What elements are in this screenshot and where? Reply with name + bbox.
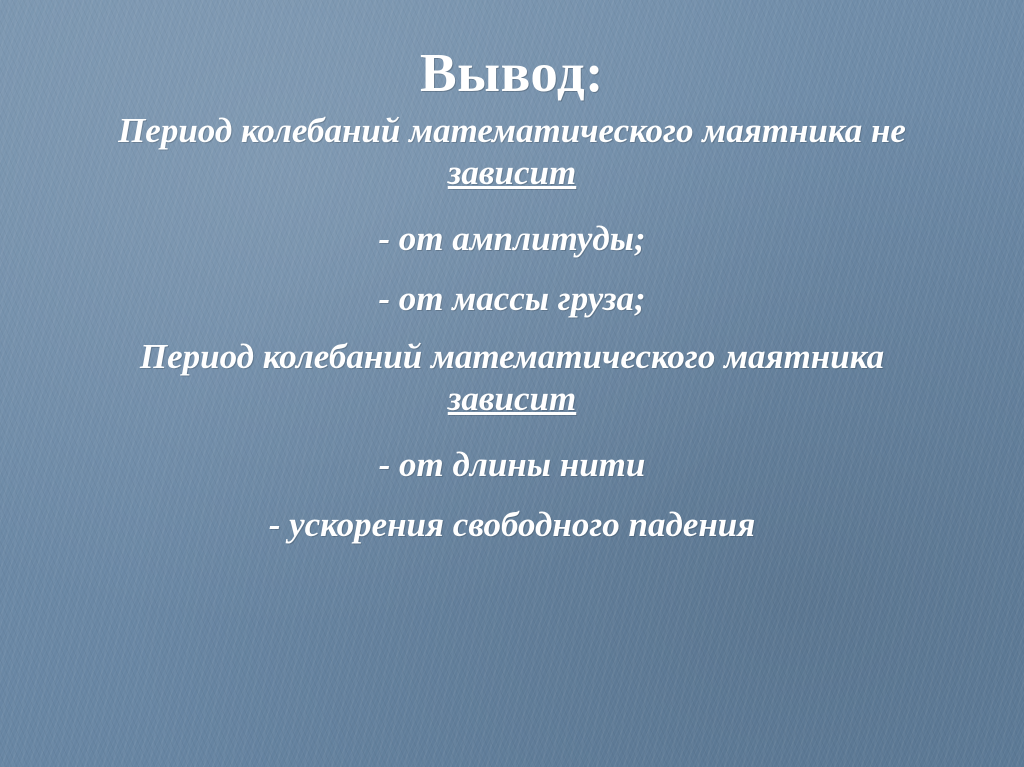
spacer-4 (58, 420, 966, 442)
body-line-6: зависит (58, 378, 966, 420)
slide-body: Период колебаний математического маятник… (0, 110, 1024, 549)
spacer-2 (58, 262, 966, 276)
body-line-1: Период колебаний математического маятник… (58, 110, 966, 152)
slide-content: Вывод: Период колебаний математического … (0, 0, 1024, 549)
body-line-5: Период колебаний математического маятник… (58, 336, 966, 378)
spacer-1 (58, 194, 966, 216)
body-line-4: - от массы груза; (58, 276, 966, 322)
body-line-3: - от амплитуды; (58, 216, 966, 262)
page-title: Вывод: (0, 44, 1024, 102)
spacer-3 (58, 322, 966, 336)
body-line-7: - от длины нити (58, 442, 966, 488)
spacer-5 (58, 488, 966, 502)
presentation-slide: Вывод: Период колебаний математического … (0, 0, 1024, 767)
body-line-8: - ускорения свободного падения (58, 502, 966, 548)
body-line-2: зависит (58, 152, 966, 194)
